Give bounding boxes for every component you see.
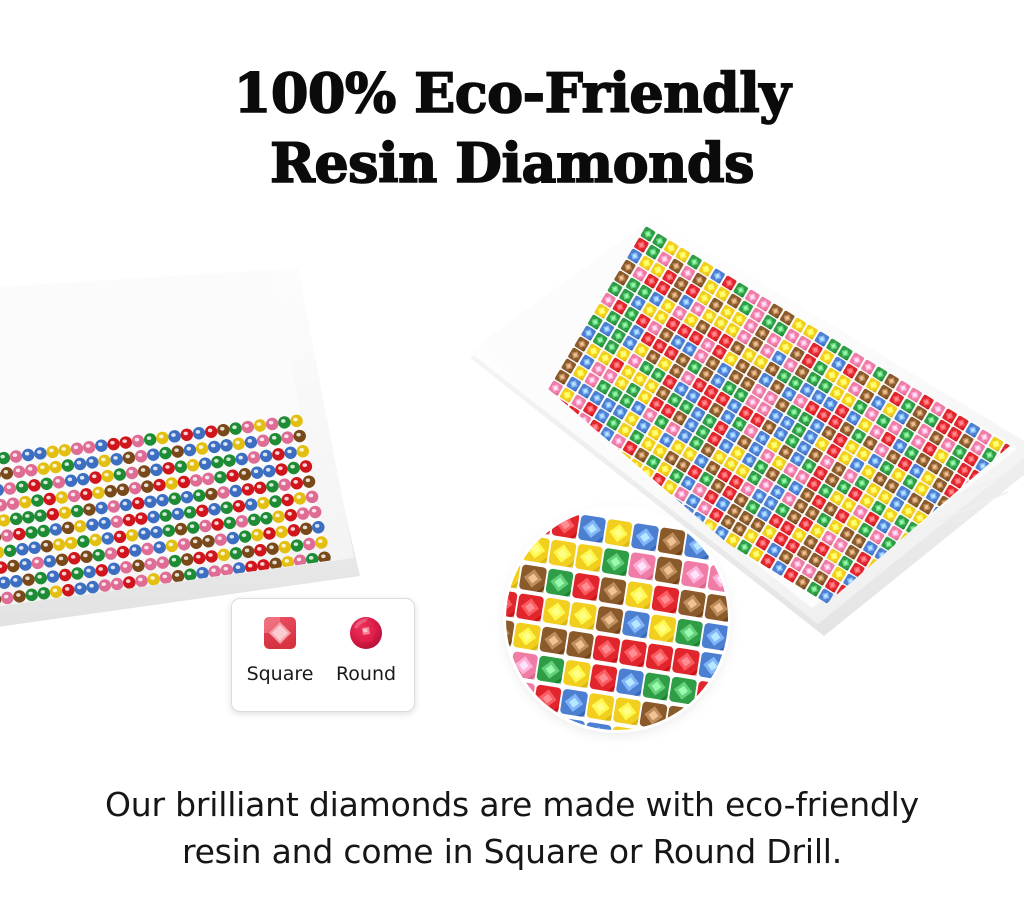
page-title: 100% Eco-Friendly Resin Diamonds <box>0 58 1024 198</box>
legend-label-round: Round <box>336 663 396 685</box>
legend-item-square[interactable]: Square <box>254 611 306 685</box>
headline-line-2: Resin Diamonds <box>0 128 1024 198</box>
square-drill-icon <box>258 611 302 655</box>
headline-line-1: 100% Eco-Friendly <box>234 61 790 125</box>
product-infographic: 100% Eco-Friendly Resin Diamonds <box>0 0 1024 922</box>
caption-line-1: Our brilliant diamonds are made with eco… <box>105 785 919 824</box>
square-drill-closeup <box>506 508 728 730</box>
drill-type-legend: Square <box>231 598 415 712</box>
legend-label-square: Square <box>247 663 314 685</box>
product-description: Our brilliant diamonds are made with eco… <box>0 782 1024 876</box>
legend-item-round[interactable]: Round <box>340 611 392 685</box>
round-drill-icon <box>344 611 388 655</box>
round-drill-tray <box>0 258 386 638</box>
caption-line-2: resin and come in Square or Round Drill. <box>0 829 1024 876</box>
